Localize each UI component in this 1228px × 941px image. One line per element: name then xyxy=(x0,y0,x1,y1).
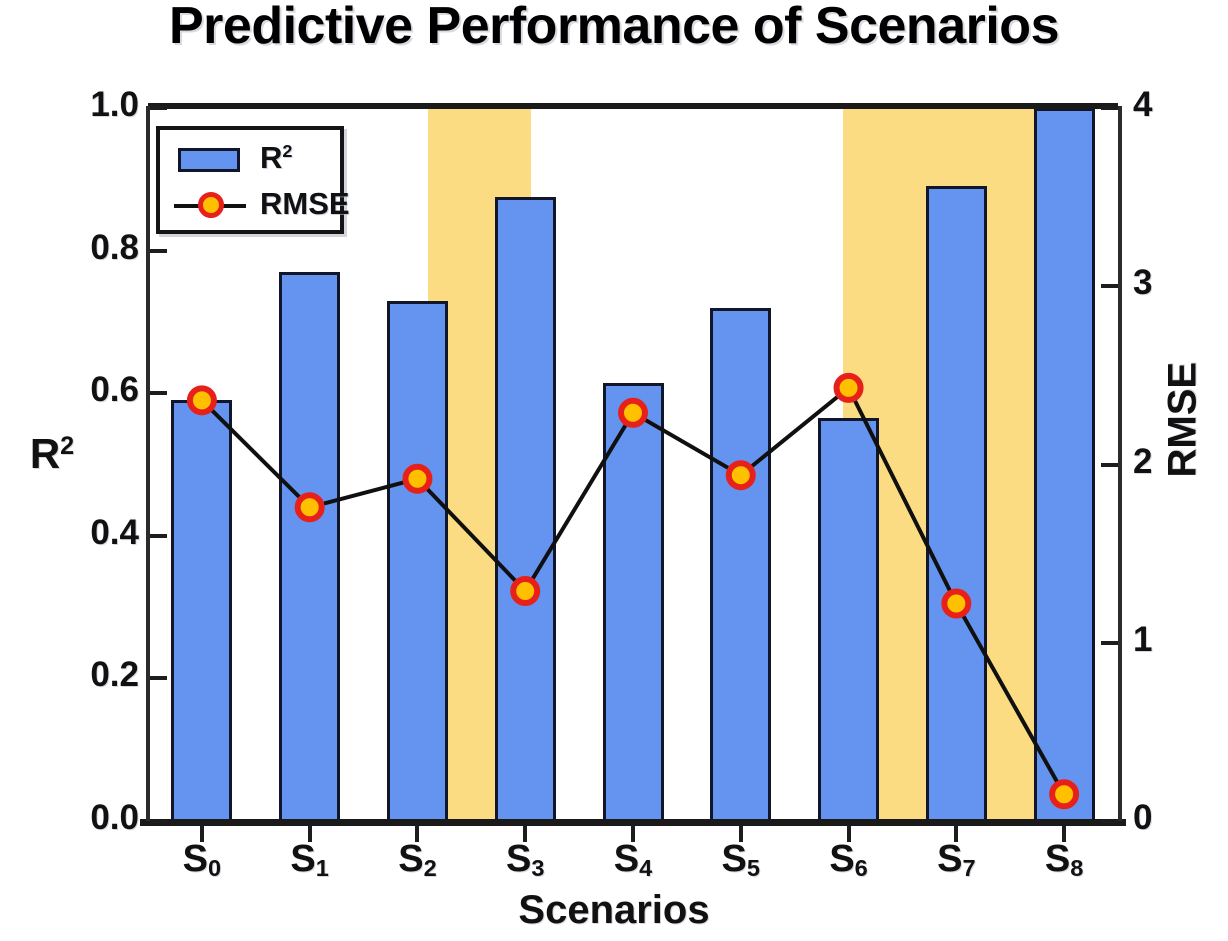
bar-s2[interactable] xyxy=(387,301,448,823)
bar-s5[interactable] xyxy=(710,308,771,823)
y-axis-left-tick-label: 0.2 xyxy=(90,655,139,695)
legend-marker-swatch-icon xyxy=(198,192,224,218)
y-axis-right-tick xyxy=(1101,819,1118,823)
y-axis-right-title: RMSE xyxy=(1161,368,1206,478)
x-axis-tick-label-s3: S3 xyxy=(475,838,575,882)
y-axis-right-tick xyxy=(1101,284,1118,288)
y-axis-left-title: R2 xyxy=(0,430,112,478)
axis-top-spine xyxy=(148,103,1118,109)
bar-s7[interactable] xyxy=(926,186,987,823)
y-axis-left-tick-label: 0.0 xyxy=(90,798,139,838)
x-axis-tick-label-s5: S5 xyxy=(691,838,791,882)
y-axis-left-tick-label: 0.6 xyxy=(90,370,139,410)
axis-left-spine xyxy=(146,106,150,821)
legend-item-r2[interactable]: R2 xyxy=(160,138,340,182)
y-axis-right-tick xyxy=(1101,463,1118,467)
axis-right-spine xyxy=(1118,106,1122,821)
bar-s6[interactable] xyxy=(818,418,879,823)
y-axis-right-tick xyxy=(1101,641,1118,645)
page-title: Predictive Performance of Scenarios xyxy=(0,0,1228,56)
x-axis-tick-label-s7: S7 xyxy=(906,838,1006,882)
bar-s0[interactable] xyxy=(171,400,232,823)
x-axis-tick-label-s0: S0 xyxy=(152,838,252,882)
x-axis-tick-label-s2: S2 xyxy=(367,838,467,882)
x-axis-tick-label-s1: S1 xyxy=(260,838,360,882)
y-axis-right-tick-label: 0 xyxy=(1133,798,1152,838)
y-axis-right-tick-label: 4 xyxy=(1133,85,1152,125)
legend-label-rmse: RMSE xyxy=(260,186,350,222)
bar-s8[interactable] xyxy=(1034,108,1095,823)
y-axis-left-tick-label: 0.4 xyxy=(90,513,139,553)
y-axis-left-tick xyxy=(150,676,167,680)
y-axis-right-tick-label: 1 xyxy=(1133,620,1152,660)
y-axis-left-title-text: R xyxy=(30,430,60,477)
legend-item-rmse[interactable]: RMSE xyxy=(160,184,340,228)
x-axis-tick-label-s6: S6 xyxy=(799,838,899,882)
x-axis-tick-label-s4: S4 xyxy=(583,838,683,882)
bar-s4[interactable] xyxy=(603,383,664,823)
bar-s1[interactable] xyxy=(279,272,340,823)
y-axis-left-tick xyxy=(150,391,167,395)
y-axis-left-tick xyxy=(150,534,167,538)
y-axis-left-tick xyxy=(150,249,167,253)
legend-box: R2 RMSE xyxy=(156,126,344,234)
bar-s3[interactable] xyxy=(495,197,556,823)
y-axis-left-tick-label: 1.0 xyxy=(90,85,139,125)
x-axis-tick-label-s8: S8 xyxy=(1014,838,1114,882)
y-axis-left-title-sup: 2 xyxy=(60,432,74,460)
y-axis-right-tick xyxy=(1101,106,1118,110)
axis-bottom-spine xyxy=(140,819,1126,826)
legend-label-r2: R2 xyxy=(260,140,292,176)
chart-figure: Predictive Performance of Scenarios 0.00… xyxy=(0,0,1228,941)
y-axis-right-tick-label: 2 xyxy=(1133,442,1152,482)
y-axis-left-tick xyxy=(150,819,167,823)
y-axis-right-tick-label: 3 xyxy=(1133,263,1152,303)
y-axis-left-tick xyxy=(150,106,167,110)
x-axis-title: Scenarios xyxy=(0,888,1228,933)
y-axis-left-tick-label: 0.8 xyxy=(90,228,139,268)
legend-bar-swatch-icon xyxy=(178,148,240,172)
